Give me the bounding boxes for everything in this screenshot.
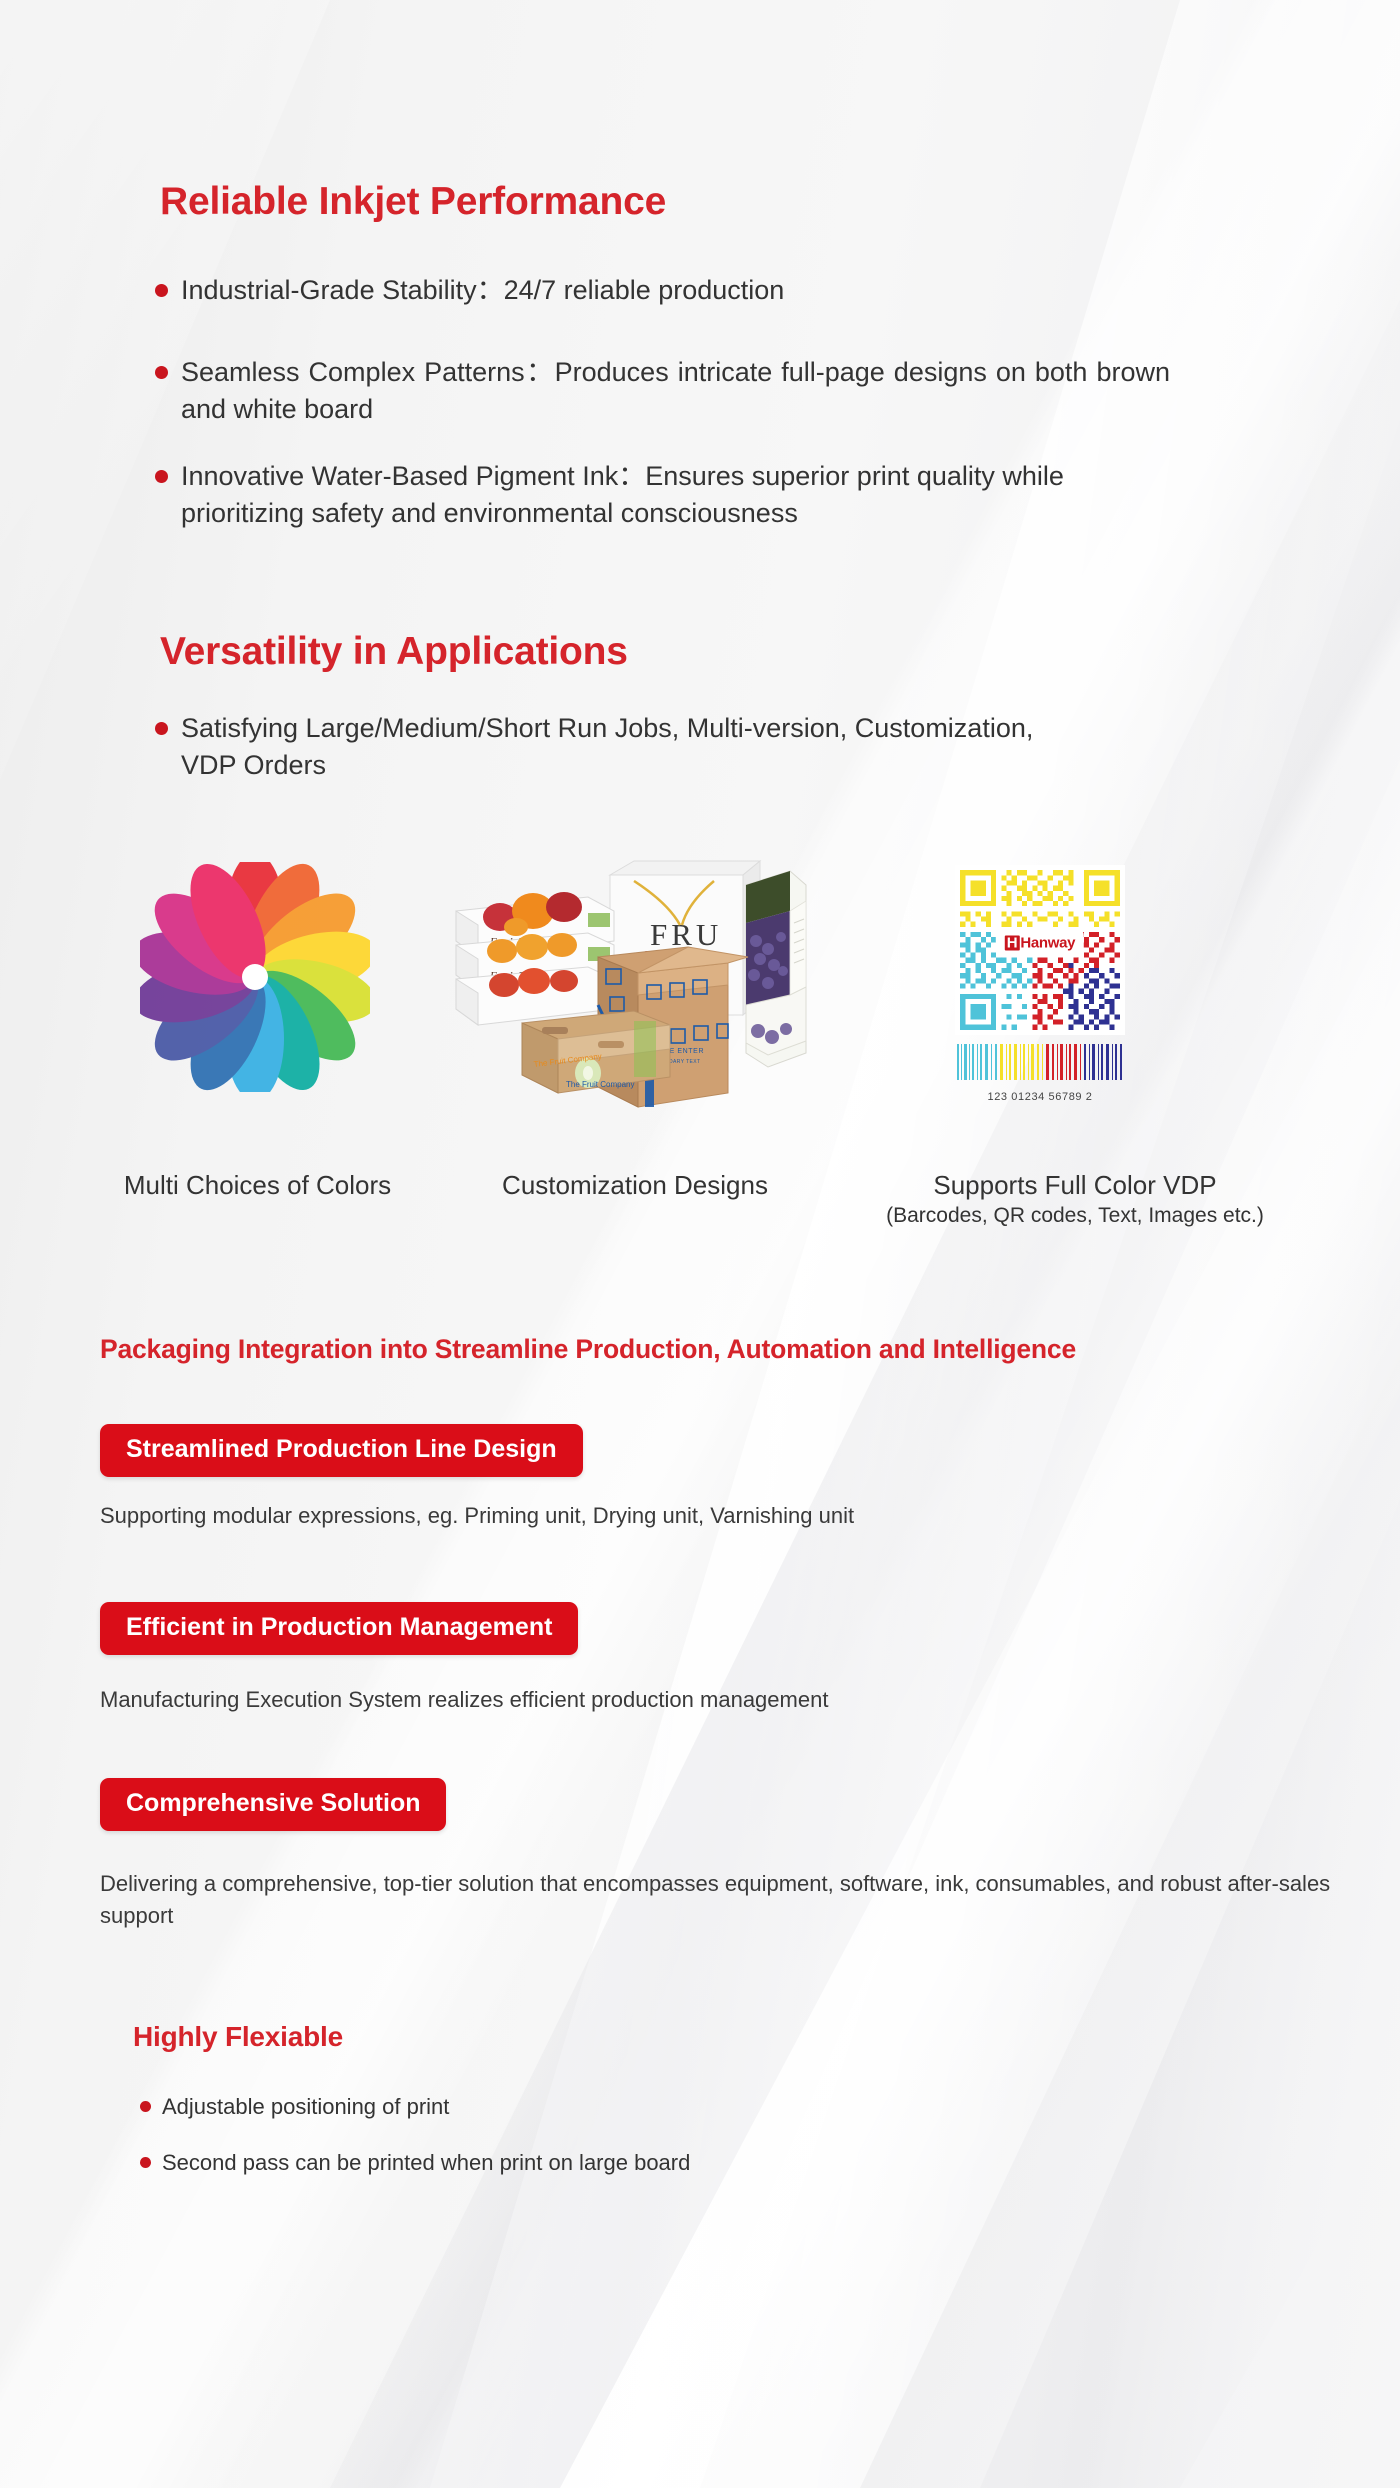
badge-efficient-production[interactable]: Efficient in Production Management: [100, 1602, 578, 1655]
caption-text: Supports Full Color VDP: [810, 1168, 1340, 1202]
integration-desc-efficient: Manufacturing Execution System realizes …: [100, 1684, 1280, 1716]
bullet-item: Seamless Complex Patterns：Produces intri…: [155, 354, 1170, 428]
section-packaging-integration: Packaging Integration into Streamline Pr…: [100, 1332, 1380, 1366]
bullet-dot-icon: [155, 284, 168, 297]
bullet-dot-icon: [140, 2157, 151, 2168]
badge-description: Manufacturing Execution System realizes …: [100, 1684, 1280, 1716]
gallery-item-colors: [140, 862, 370, 1092]
caption-text: Customization Designs: [440, 1168, 830, 1202]
qr-barcode-icon: HHanway: [955, 865, 1125, 1035]
bullet-text: Innovative Water-Based Pigment Ink：Ensur…: [181, 458, 1180, 532]
integration-block-efficient: Efficient in Production Management: [100, 1602, 578, 1655]
integration-desc-comprehensive: Delivering a comprehensive, top-tier sol…: [100, 1868, 1345, 1932]
badge-description: Supporting modular expressions, eg. Prim…: [100, 1500, 1280, 1532]
section-highly-flexiable: Highly Flexiable: [133, 2020, 933, 2054]
badge-comprehensive-solution[interactable]: Comprehensive Solution: [100, 1778, 446, 1831]
bullet-item: Satisfying Large/Medium/Short Run Jobs, …: [155, 710, 1055, 784]
gallery-item-vdp: HHanway: [955, 865, 1125, 1103]
bullet-dot-icon: [155, 722, 168, 735]
svg-text:The Fruit Company: The Fruit Company: [566, 1080, 634, 1089]
bullet-dot-icon: [155, 366, 168, 379]
bullet-dot-icon: [155, 470, 168, 483]
badge-description: Delivering a comprehensive, top-tier sol…: [100, 1868, 1345, 1932]
section-versatility: Versatility in Applications: [160, 630, 1260, 674]
qr-center-logo: HHanway: [996, 929, 1084, 958]
packaging-boxes-photo: FRU ITS: [438, 845, 828, 1125]
gallery-caption-customization: Customization Designs: [440, 1168, 830, 1202]
gallery-caption-vdp: Supports Full Color VDP (Barcodes, QR co…: [810, 1168, 1340, 1230]
bullet-item: Industrial-Grade Stability：24/7 reliable…: [155, 272, 1215, 309]
bullet-text: Second pass can be printed when print on…: [162, 2148, 690, 2178]
gallery-item-customization: FRU ITS: [438, 845, 828, 1125]
section-title-versatility: Versatility in Applications: [160, 630, 1260, 674]
integration-block-comprehensive: Comprehensive Solution: [100, 1778, 446, 1831]
qr-logo-text: Hanway: [1020, 935, 1075, 952]
section-reliable-inkjet: Reliable Inkjet Performance: [160, 180, 1260, 224]
section-title-flexiable: Highly Flexiable: [133, 2020, 933, 2054]
integration-desc-streamlined: Supporting modular expressions, eg. Prim…: [100, 1500, 1280, 1532]
bullet-item: Innovative Water-Based Pigment Ink：Ensur…: [155, 458, 1180, 532]
bullet-text: Industrial-Grade Stability：24/7 reliable…: [181, 272, 784, 309]
section-title-reliable: Reliable Inkjet Performance: [160, 180, 1260, 224]
barcode-number: 123 01234 56789 2: [955, 1091, 1125, 1103]
bullet-item: Second pass can be printed when print on…: [140, 2148, 990, 2178]
caption-text: Multi Choices of Colors: [60, 1168, 455, 1202]
bullet-dot-icon: [140, 2101, 151, 2112]
bullet-text: Satisfying Large/Medium/Short Run Jobs, …: [181, 710, 1055, 784]
bullet-text: Seamless Complex Patterns：Produces intri…: [181, 354, 1170, 428]
section-title-integration: Packaging Integration into Streamline Pr…: [100, 1332, 1380, 1366]
barcode-graphic: 123 01234 56789 2: [955, 1044, 1125, 1103]
color-wheel-flower-icon: [140, 862, 370, 1092]
bullet-item: Adjustable positioning of print: [140, 2092, 940, 2122]
bullet-text: Adjustable positioning of print: [162, 2092, 449, 2122]
badge-streamlined-production[interactable]: Streamlined Production Line Design: [100, 1424, 583, 1477]
gallery-caption-colors: Multi Choices of Colors: [60, 1168, 455, 1202]
integration-block-streamlined: Streamlined Production Line Design: [100, 1424, 583, 1477]
qr-logo-initial: H: [1005, 936, 1020, 951]
caption-subtext: (Barcodes, QR codes, Text, Images etc.): [810, 1202, 1340, 1230]
